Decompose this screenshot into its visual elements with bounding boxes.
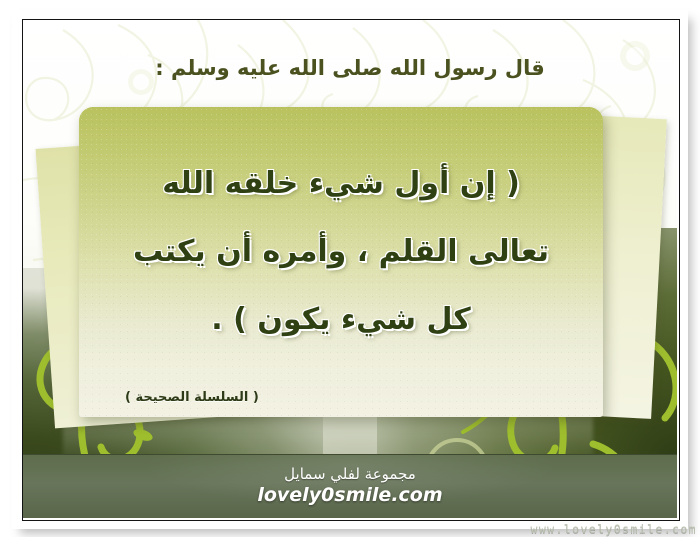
footer-group-name: مجموعة لفلي سمايل bbox=[23, 465, 677, 483]
hadith-card: ( إن أول شيء خلقه الله تعالى القلم ، وأم… bbox=[79, 107, 603, 417]
artwork: قال رسول الله صلى الله عليه وسلم : ( إن … bbox=[23, 20, 677, 518]
hadith-line-2: تعالى القلم ، وأمره أن يكتب bbox=[79, 237, 603, 267]
url-watermark: www.lovely0smile.com bbox=[531, 522, 697, 536]
artwork-frame: قال رسول الله صلى الله عليه وسلم : ( إن … bbox=[22, 19, 680, 521]
hadith-source-reference: ( السلسلة الصحيحة ) bbox=[79, 390, 603, 405]
hadith-intro-text: قال رسول الله صلى الله عليه وسلم : bbox=[23, 56, 677, 80]
footer-site-url[interactable]: lovely0smile.com bbox=[23, 484, 677, 506]
hadith-line-1: ( إن أول شيء خلقه الله bbox=[79, 169, 603, 199]
hadith-line-3: كل شيء يكون ) . bbox=[79, 305, 603, 335]
screenshot-canvas: قال رسول الله صلى الله عليه وسلم : ( إن … bbox=[0, 0, 700, 537]
footer-band: مجموعة لفلي سمايل lovely0smile.com bbox=[23, 454, 677, 518]
